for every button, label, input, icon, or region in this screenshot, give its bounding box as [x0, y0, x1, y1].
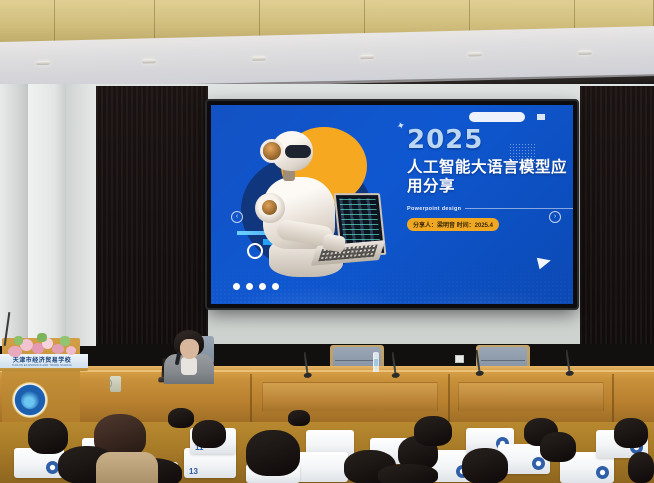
slide-pagination-dots[interactable]	[233, 283, 279, 290]
flower-arrangement	[4, 330, 82, 360]
seat[interactable]	[296, 452, 348, 482]
pagination-dot[interactable]	[272, 283, 279, 290]
audience-head	[288, 410, 310, 426]
pagination-dot[interactable]	[233, 283, 240, 290]
presentation-slide: + ✦	[211, 105, 573, 304]
menu-icon[interactable]	[537, 114, 545, 120]
tea-cup	[110, 376, 121, 392]
slide-subtitle: Powerpoint design	[407, 206, 461, 212]
slide-subtitle-row: Powerpoint design	[407, 206, 573, 212]
seat-logo-icon	[596, 466, 609, 479]
school-name-en: TIANJIN ECONOMICS AND TRADE SCHOOL	[12, 364, 73, 367]
audience-head	[192, 420, 226, 448]
water-bottle	[373, 352, 379, 372]
presenter	[160, 330, 216, 382]
stage-curtain-right	[580, 86, 654, 344]
slide-prev-button[interactable]: ‹	[231, 211, 243, 223]
presenter-face	[180, 339, 199, 359]
table-seam	[612, 374, 614, 422]
audience-head	[614, 418, 648, 448]
table-panel	[458, 382, 604, 412]
lecture-hall-photo: + ✦	[0, 0, 654, 483]
downlight-icon	[468, 52, 482, 56]
audience-head	[628, 452, 654, 483]
wall-socket	[455, 355, 464, 363]
wall-pillar	[66, 84, 96, 346]
slide-wave-decoration	[211, 252, 573, 304]
robot-shoulder	[255, 193, 285, 223]
slide-title: 人工智能大语言模型应用分享	[407, 159, 573, 197]
school-emblem-icon	[12, 382, 48, 418]
led-display-screen: + ✦	[207, 101, 577, 308]
audience-head	[28, 418, 68, 454]
audience-head	[246, 430, 300, 476]
presenter-shirt	[181, 357, 197, 375]
stage-curtain-left	[96, 86, 208, 344]
downlight-icon	[142, 59, 156, 63]
audience-head	[168, 408, 194, 428]
slide-pill-button[interactable]	[469, 112, 525, 122]
slide-next-button[interactable]: ›	[549, 211, 561, 223]
table-seam	[448, 374, 450, 422]
seat-number: 13	[189, 467, 198, 476]
audience-body	[96, 452, 158, 483]
audience-head	[414, 416, 452, 446]
table-panel	[262, 382, 438, 412]
downlight-icon	[36, 61, 50, 65]
robot-visor	[285, 145, 311, 158]
robot-ear	[263, 142, 281, 160]
audience-head	[462, 448, 508, 483]
audience-head	[378, 464, 438, 483]
subtitle-rule	[465, 208, 573, 209]
pagination-dot[interactable]	[246, 283, 253, 290]
wall-pillar	[28, 84, 66, 346]
downlight-icon	[252, 56, 266, 60]
downlight-icon	[578, 51, 592, 55]
wall-pillar	[0, 84, 30, 346]
slide-presenter-badge: 分享人：梁明音 时间：2025.4	[407, 218, 499, 231]
slide-year: 2025	[407, 127, 573, 153]
downlight-icon	[360, 55, 374, 59]
seat-logo-icon	[532, 457, 545, 470]
audience-head	[540, 432, 576, 462]
pagination-dot[interactable]	[259, 283, 266, 290]
table-seam	[250, 374, 252, 422]
